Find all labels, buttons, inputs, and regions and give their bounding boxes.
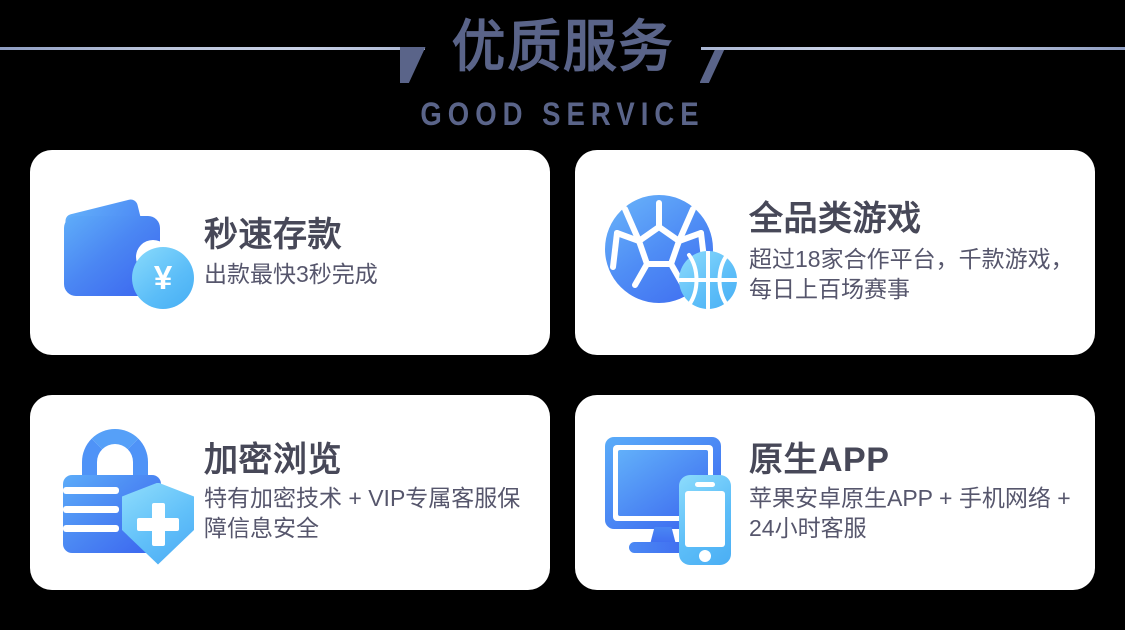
- lock-stripe-icon: [63, 506, 119, 513]
- monitor-phone-icon: [601, 423, 741, 563]
- feature-card-text: 全品类游戏 超过18家合作平台，千款游戏，每日上百场赛事: [741, 200, 1077, 304]
- basketball-lines-icon: [679, 251, 737, 309]
- feature-card-native-app[interactable]: 原生APP 苹果安卓原生APP + 手机网络 + 24小时客服: [575, 395, 1095, 590]
- banner-header: 优质服务 GOOD SERVICE: [0, 0, 1125, 140]
- page-title: 优质服务: [430, 20, 695, 76]
- card-subtitle: 特有加密技术 + VIP专属客服保障信息安全: [204, 483, 532, 544]
- good-service-banner: 优质服务 GOOD SERVICE ¥ 秒速存款 出款最快3秒完成: [0, 0, 1125, 630]
- feature-card-deposit[interactable]: ¥ 秒速存款 出款最快3秒完成: [30, 150, 550, 355]
- wallet-yen-icon: ¥: [56, 183, 196, 323]
- card-title: 加密浏览: [204, 441, 532, 480]
- card-title: 秒速存款: [204, 216, 532, 255]
- feature-card-encryption[interactable]: 加密浏览 特有加密技术 + VIP专属客服保障信息安全: [30, 395, 550, 590]
- card-subtitle: 苹果安卓原生APP + 手机网络 + 24小时客服: [749, 483, 1077, 544]
- phone-speaker-icon: [695, 482, 715, 487]
- header-rule-right-tail: [700, 47, 726, 83]
- header-title-row: 优质服务: [0, 0, 1125, 96]
- header-rule-left-tail: [400, 47, 426, 83]
- card-title: 原生APP: [749, 441, 1077, 480]
- page-subtitle: GOOD SERVICE: [79, 96, 1047, 133]
- header-rule-right: [701, 28, 1125, 68]
- lock-stripe-icon: [63, 487, 119, 494]
- phone-screen-icon: [685, 491, 725, 547]
- header-rule-right-line: [701, 47, 1125, 50]
- feature-card-text: 秒速存款 出款最快3秒完成: [196, 216, 532, 290]
- header-rule-left-line: [0, 47, 425, 50]
- lock-shield-icon: [56, 423, 196, 563]
- plus-icon: [152, 503, 165, 546]
- card-title: 全品类游戏: [749, 200, 1077, 239]
- feature-card-text: 加密浏览 特有加密技术 + VIP专属客服保障信息安全: [196, 441, 532, 543]
- feature-card-text: 原生APP 苹果安卓原生APP + 手机网络 + 24小时客服: [741, 441, 1077, 543]
- header-rule-left: [0, 28, 425, 68]
- card-subtitle: 超过18家合作平台，千款游戏，每日上百场赛事: [749, 244, 1077, 305]
- phone-home-button-icon: [699, 550, 711, 562]
- shield-plus-icon: [122, 483, 194, 565]
- yen-symbol: ¥: [132, 247, 194, 309]
- feature-card-grid: ¥ 秒速存款 出款最快3秒完成: [30, 150, 1095, 590]
- feature-card-games[interactable]: 全品类游戏 超过18家合作平台，千款游戏，每日上百场赛事: [575, 150, 1095, 355]
- soccer-basketball-icon: [601, 183, 741, 323]
- lock-stripe-icon: [63, 525, 119, 532]
- card-subtitle: 出款最快3秒完成: [204, 259, 532, 289]
